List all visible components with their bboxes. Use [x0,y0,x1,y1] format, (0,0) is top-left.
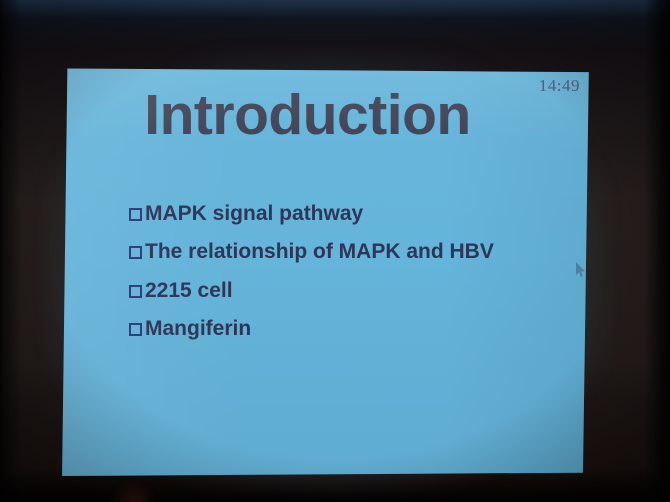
hollow-square-bullet-icon [129,323,142,336]
slide-title: Introduction [61,86,592,146]
bullet-item: Mangiferin [129,317,494,341]
hollow-square-bullet-icon [129,285,142,298]
bullet-text: Mangiferin [145,317,251,341]
hollow-square-bullet-icon [129,246,142,259]
slide-bullet-list: MAPK signal pathway The relationship of … [129,202,494,355]
bullet-item: 2215 cell [129,279,494,303]
bullet-text: MAPK signal pathway [145,202,363,226]
bullet-item: MAPK signal pathway [129,202,494,226]
room-right-shadow [644,0,670,502]
slide-content: 14:49 Introduction MAPK signal pathway T… [61,66,592,476]
bullet-text: The relationship of MAPK and HBV [145,240,494,264]
projection-screen[interactable]: 14:49 Introduction MAPK signal pathway T… [61,66,592,476]
hollow-square-bullet-icon [129,208,142,221]
mouse-pointer-arrow-icon[interactable] [575,262,587,278]
bullet-text: 2215 cell [145,279,233,303]
room-left-shadow [0,0,22,502]
bullet-item: The relationship of MAPK and HBV [129,240,494,264]
projected-slide-photo: 14:49 Introduction MAPK signal pathway T… [0,0,670,502]
ceiling-light-sheen [0,0,670,26]
